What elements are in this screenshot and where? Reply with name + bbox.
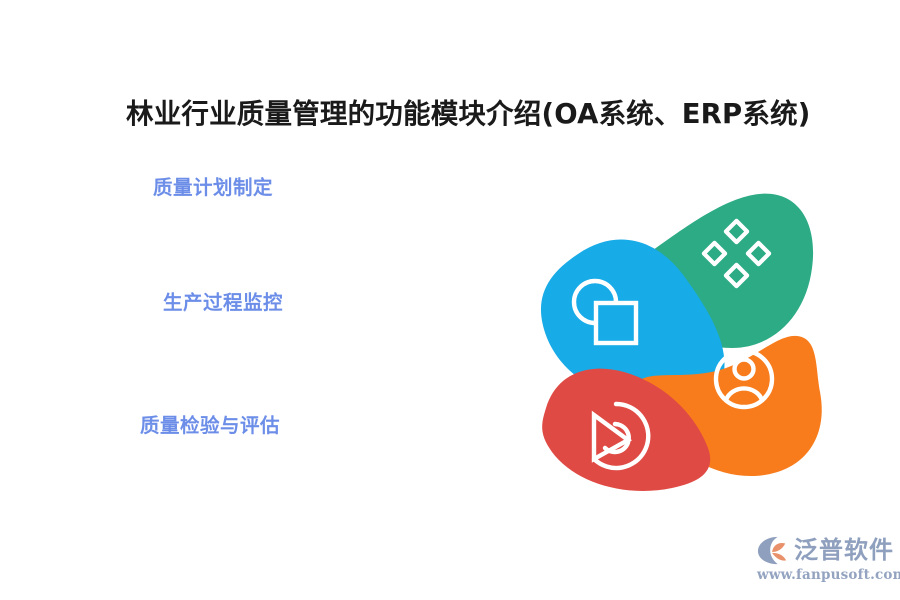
slide-canvas: 林业行业质量管理的功能模块介绍(OA系统、ERP系统) 质量计划制定 生产过程监… xyxy=(0,0,900,600)
feature-label-inspection-evaluation: 质量检验与评估 xyxy=(140,409,280,438)
brand-logo: 泛普软件 www.fanpusoft.com xyxy=(757,534,897,590)
feature-label-list: 质量计划制定 生产过程监控 质量检验与评估 xyxy=(0,0,430,600)
logo-website-url: www.fanpusoft.com xyxy=(757,567,897,583)
logo-company-name: 泛普软件 xyxy=(794,538,894,562)
feature-label-quality-planning: 质量计划制定 xyxy=(153,171,273,200)
fanpu-logo-mark-icon xyxy=(757,535,789,565)
four-petal-graphic xyxy=(516,176,846,506)
feature-label-production-monitoring: 生产过程监控 xyxy=(163,286,283,315)
